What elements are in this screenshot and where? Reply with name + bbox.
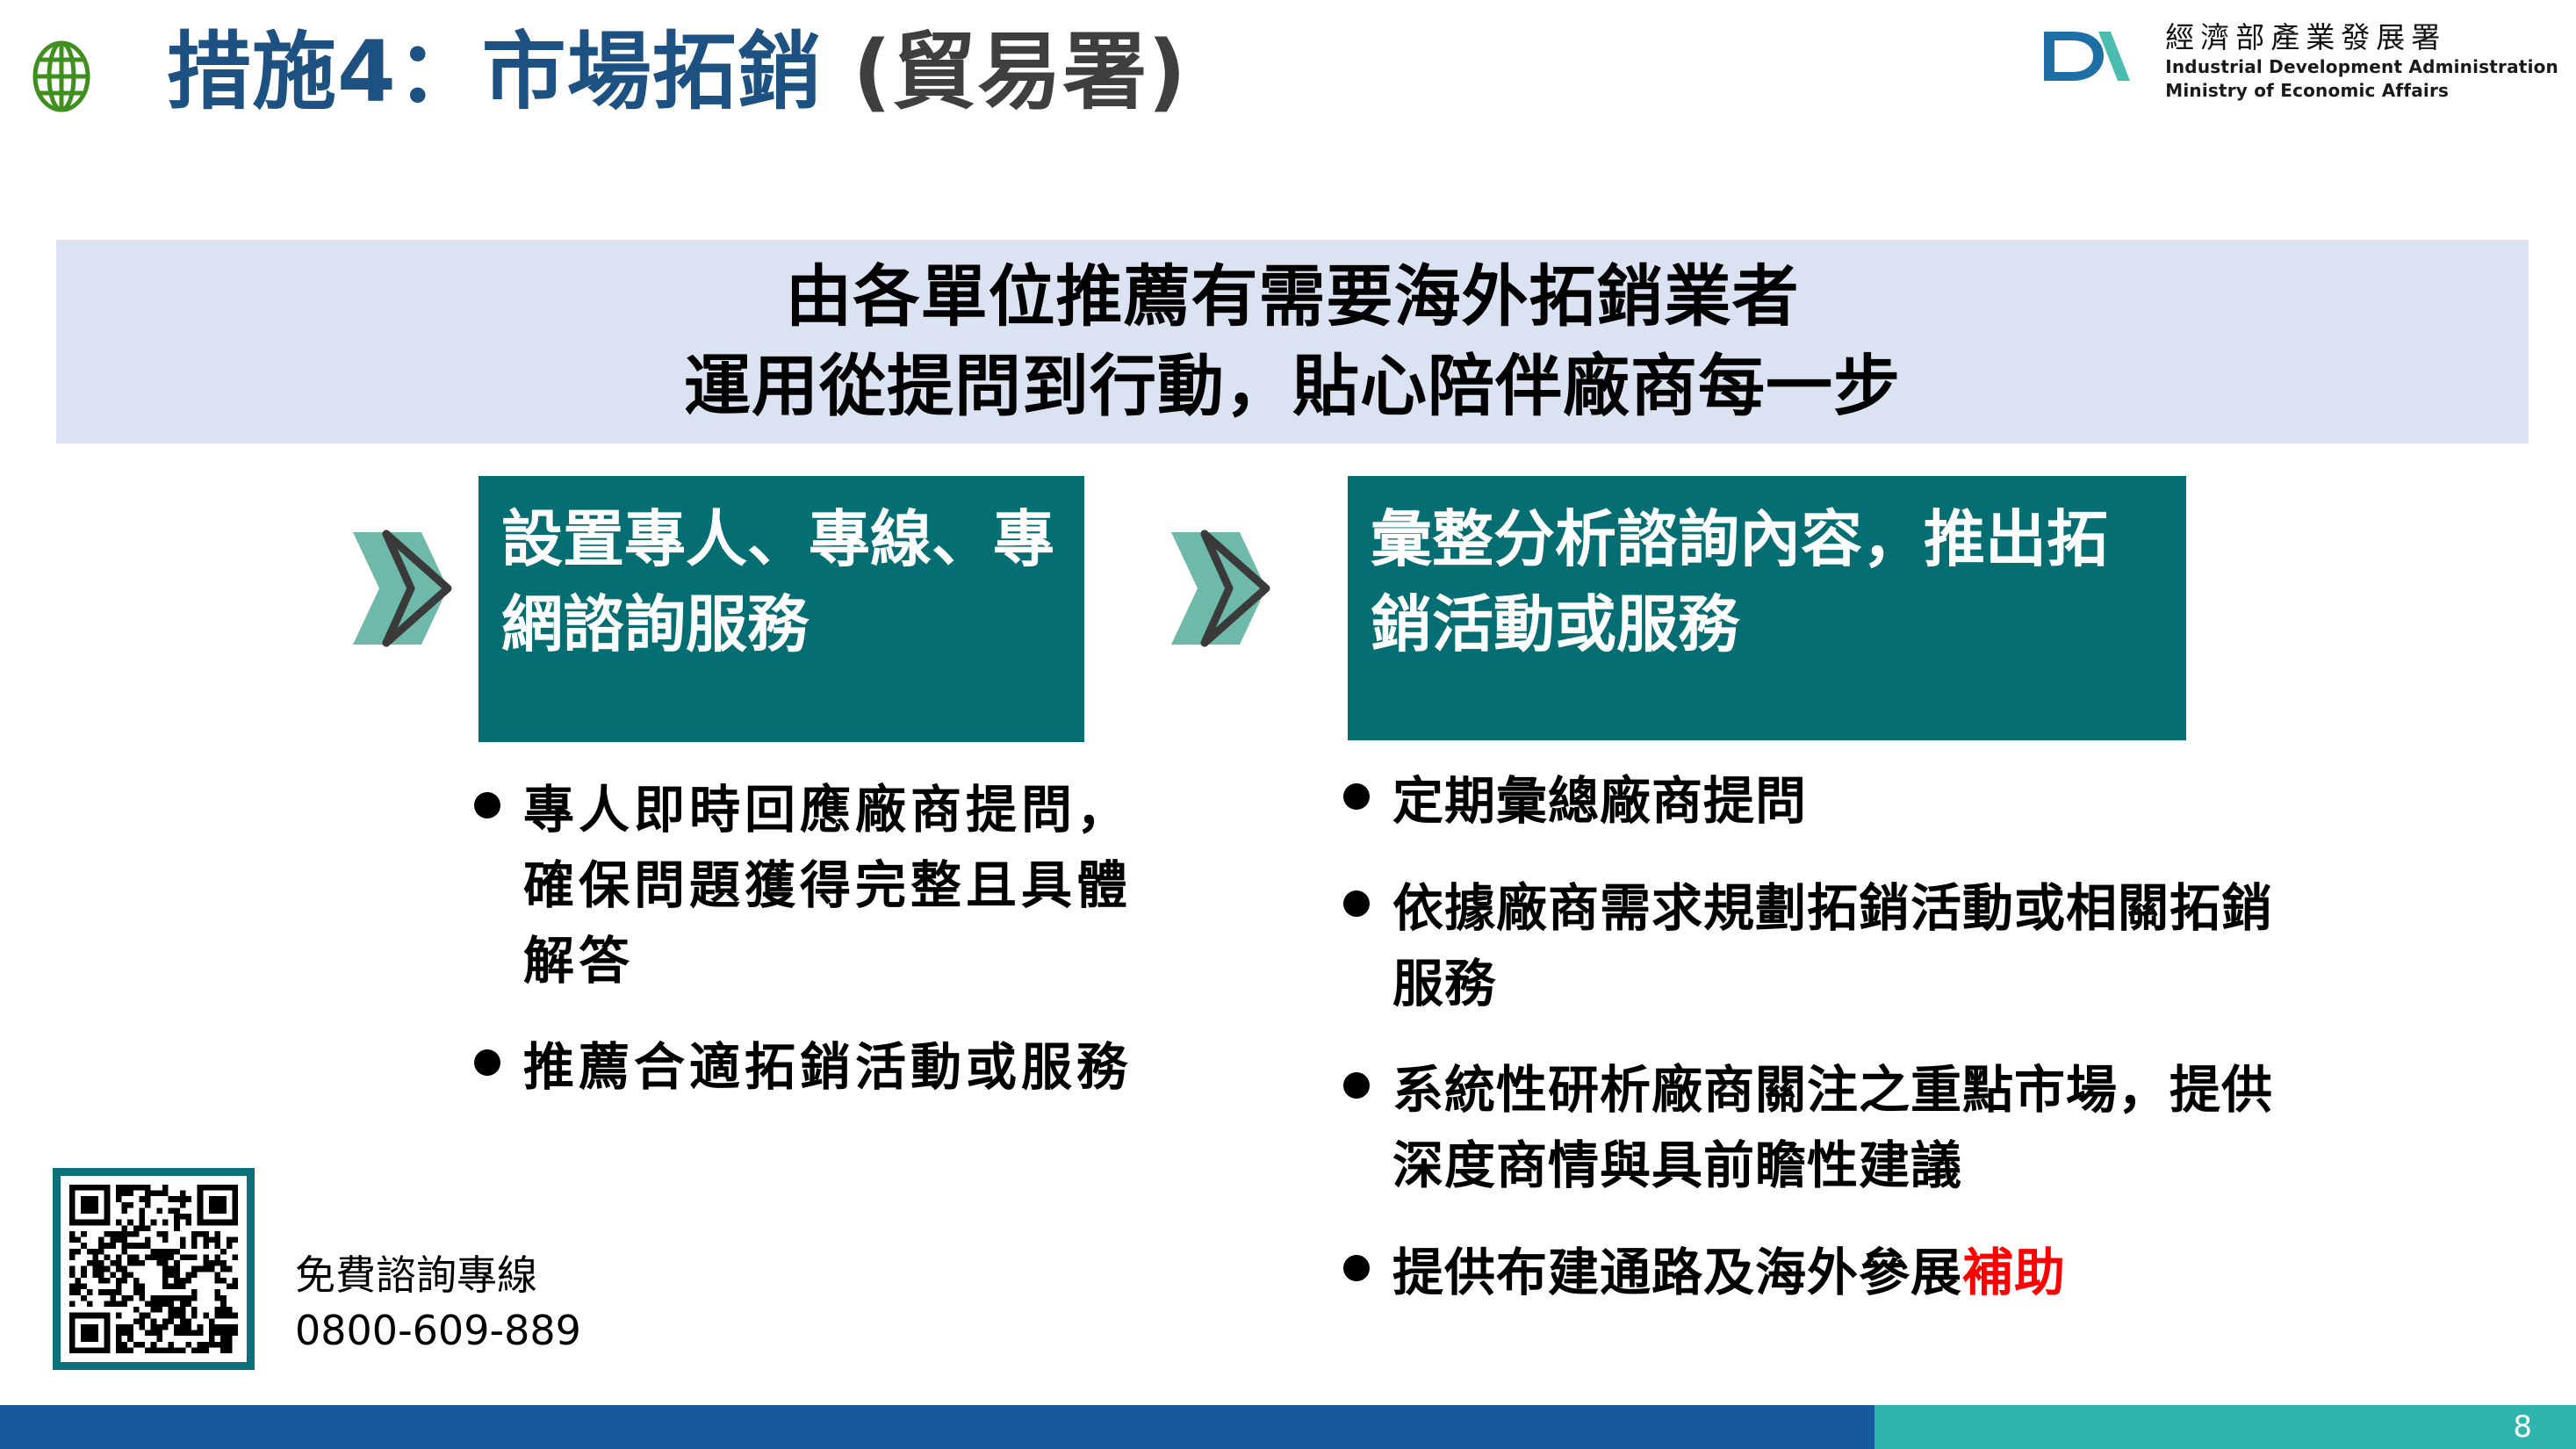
list-item-text: 推薦合適拓銷活動或服務	[523, 1030, 1132, 1106]
page-title-sub: (貿易署)	[823, 23, 1187, 121]
org-name-en-line2: Ministry of Economic Affairs	[2165, 79, 2558, 103]
headline-banner: 由各單位推薦有需要海外拓銷業者 運用從提問到行動，貼心陪伴廠商每一步	[56, 240, 2529, 443]
bullet-list-left: 專人即時回應廠商提問，確保問題獲得完整且具體解答 推薦合適拓銷活動或服務	[474, 773, 1176, 1137]
list-item-text: 系統性研析廠商關注之重點市場，提供深度商情與具前瞻性建議	[1392, 1053, 2318, 1204]
hotline-number: 0800-609-889	[295, 1303, 581, 1359]
flow-arrow-icon	[349, 527, 481, 650]
flow-arrow-icon	[1168, 527, 1299, 650]
organization-name: 經濟部產業發展署 Industrial Development Administ…	[2165, 14, 2558, 103]
bullet-dot-icon	[474, 792, 500, 818]
list-item: 提供布建通路及海外參展補助	[1343, 1236, 2318, 1311]
column-heading-box-1: 設置專人、專線、專網諮詢服務	[479, 476, 1084, 742]
list-item-text-highlighted: 提供布建通路及海外參展補助	[1392, 1236, 2066, 1311]
footer-bar: 8	[0, 1405, 2576, 1449]
list-item: 系統性研析廠商關注之重點市場，提供深度商情與具前瞻性建議	[1343, 1053, 2318, 1204]
page-title: 措施4：市場拓銷 (貿易署)	[167, 19, 1187, 125]
hotline-label: 免費諮詢專線	[295, 1248, 581, 1303]
contact-block: 免費諮詢專線 0800-609-889	[53, 1168, 581, 1370]
globe-icon	[25, 40, 98, 113]
list-item-text: 專人即時回應廠商提問，確保問題獲得完整且具體解答	[523, 773, 1176, 998]
banner-line-1: 由各單位推薦有需要海外拓銷業者	[786, 252, 1800, 342]
list-item-text: 依據廠商需求規劃拓銷活動或相關拓銷服務	[1392, 871, 2318, 1022]
list-item-text-emphasis: 補助	[1962, 1243, 2066, 1302]
list-item: 定期彙總廠商提問	[1343, 764, 2318, 840]
list-item-text-plain: 提供布建通路及海外參展	[1392, 1243, 1962, 1302]
list-item: 專人即時回應廠商提問，確保問題獲得完整且具體解答	[474, 773, 1176, 998]
bullet-dot-icon	[1343, 1072, 1370, 1099]
list-item: 推薦合適拓銷活動或服務	[474, 1030, 1176, 1106]
qr-code[interactable]	[53, 1168, 255, 1370]
bullet-dot-icon	[1343, 1255, 1370, 1281]
banner-line-2: 運用從提問到行動，貼心陪伴廠商每一步	[684, 342, 1901, 431]
footer-bar-teal: 8	[1874, 1405, 2576, 1449]
list-item: 依據廠商需求規劃拓銷活動或相關拓銷服務	[1343, 871, 2318, 1022]
page-number: 8	[2513, 1412, 2532, 1442]
column-heading-box-2: 彙整分析諮詢內容，推出拓銷活動或服務	[1348, 476, 2186, 740]
bullet-dot-icon	[1343, 890, 1370, 917]
list-item-text: 定期彙總廠商提問	[1392, 764, 1807, 840]
footer-bar-blue	[0, 1405, 1874, 1449]
page-title-main: 措施4：市場拓銷	[167, 23, 823, 121]
ida-logo-mark-icon	[2035, 14, 2149, 90]
org-name-en-line1: Industrial Development Administration	[2165, 55, 2558, 79]
column-heading-text: 彙整分析諮詢內容，推出拓銷活動或服務	[1371, 497, 2163, 667]
hotline-info: 免費諮詢專線 0800-609-889	[295, 1179, 581, 1359]
organization-logo: 經濟部產業發展署 Industrial Development Administ…	[2035, 14, 2558, 103]
org-name-zh: 經濟部產業發展署	[2165, 19, 2558, 55]
bullet-dot-icon	[1343, 783, 1370, 810]
column-heading-text: 設置專人、專線、專網諮詢服務	[501, 497, 1061, 667]
bullet-dot-icon	[474, 1049, 500, 1076]
bullet-list-right: 定期彙總廠商提問 依據廠商需求規劃拓銷活動或相關拓銷服務 系統性研析廠商關注之重…	[1343, 764, 2318, 1343]
